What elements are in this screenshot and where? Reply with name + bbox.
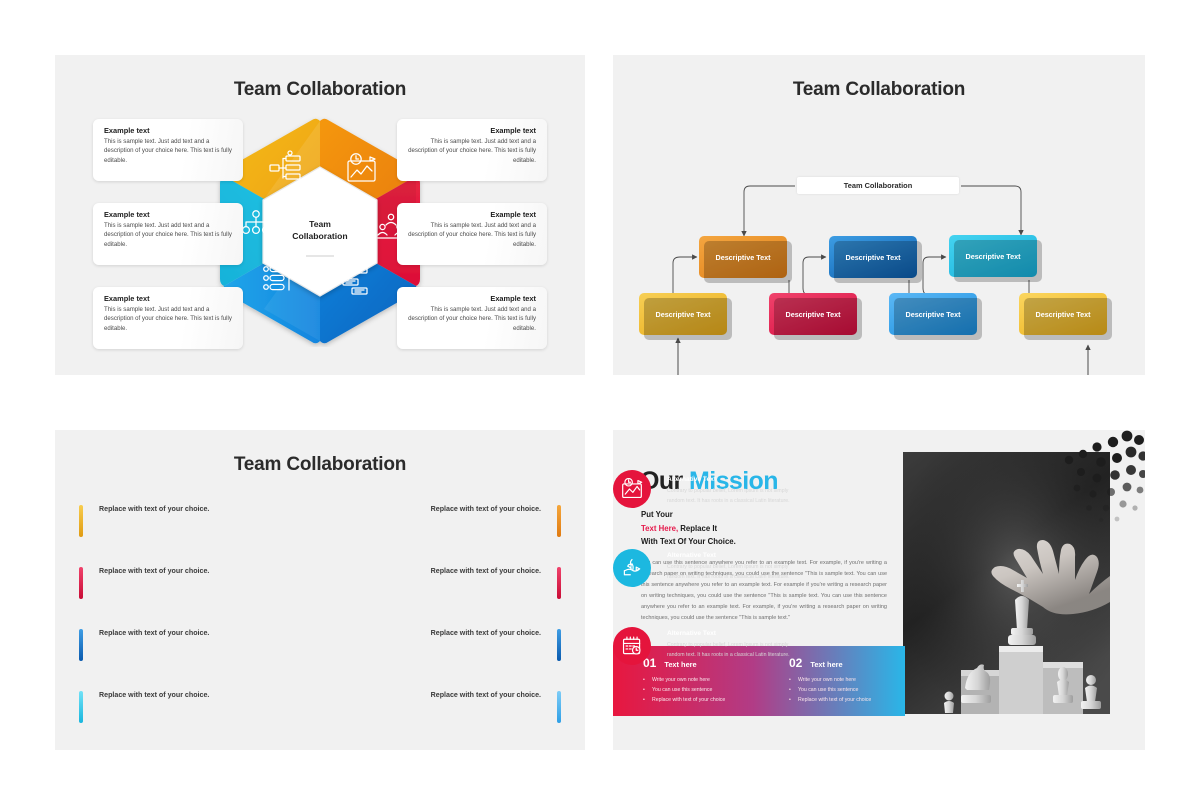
- list-item-right-3[interactable]: Replace with text of your choice.: [426, 628, 561, 639]
- card-heading: Example text: [104, 294, 234, 303]
- list-item-left-2[interactable]: Replace with text of your choice.: [79, 566, 214, 577]
- list-item-right-1[interactable]: Replace with text of your choice.: [426, 504, 561, 515]
- slide-our-mission[interactable]: Our Mission Put Your Text Here, Replace …: [613, 430, 1145, 750]
- subtitle-block: Put Your Text Here, Replace It With Text…: [641, 508, 891, 549]
- card-body: This is sample text. Just add text and a…: [104, 221, 234, 249]
- hexagon-center-line1: Team: [309, 219, 331, 229]
- accent-tick: [557, 691, 561, 723]
- list-item-label: Replace with text of your choice.: [426, 690, 541, 701]
- subtitle-accent: Text Here,: [641, 524, 678, 533]
- list-item-right-4[interactable]: Replace with text of your choice.: [426, 690, 561, 701]
- list-item-label: Replace with text of your choice.: [99, 504, 214, 515]
- example-card-5[interactable]: Example text This is sample text. Just a…: [397, 203, 547, 265]
- column-label: Text here: [810, 660, 842, 669]
- slide-deck-preview: Team Collaboration: [0, 0, 1200, 800]
- handshake-growth-glyph: [621, 557, 643, 579]
- presentation-clock-glyph: [621, 478, 643, 500]
- card-body: This is sample text. Just add text and a…: [406, 305, 536, 333]
- column-bullet: Replace with text of your choice: [643, 695, 759, 705]
- column-bullet: You can use this sentence: [789, 685, 905, 695]
- accent-tick: [79, 691, 83, 723]
- list-item-left-1[interactable]: Replace with text of your choice.: [79, 504, 214, 515]
- halftone-dots-decoration: [1027, 430, 1145, 525]
- accent-tick: [79, 567, 83, 599]
- list-item-label: Replace with text of your choice.: [99, 566, 214, 577]
- column-bullet: Write your own note here: [643, 675, 759, 685]
- calendar-clock-icon[interactable]: [613, 627, 651, 665]
- card-heading: Example text: [104, 126, 234, 135]
- card-heading: Example text: [406, 294, 536, 303]
- accent-tick: [557, 629, 561, 661]
- list-item-label: Replace with text of your choice.: [99, 690, 214, 701]
- handshake-growth-icon[interactable]: [613, 549, 651, 587]
- column-label: Text here: [664, 660, 696, 669]
- mission-column-1: 01 Text here Write your own note here Yo…: [613, 656, 759, 716]
- slide-team-collaboration-pinwheel[interactable]: Team Collaboration: [55, 430, 585, 750]
- alt-heading: Alternative Text: [667, 630, 805, 637]
- example-card-2[interactable]: Example text This is sample text. Just a…: [93, 203, 243, 265]
- alt-text-block-1: Alternative Text Contrary to popular bel…: [667, 476, 805, 506]
- list-item-label: Replace with text of your choice.: [426, 504, 541, 515]
- flow-box-7[interactable]: Descriptive Text: [1019, 293, 1107, 335]
- calendar-clock-glyph: [621, 635, 643, 657]
- page-title: Team Collaboration: [55, 454, 585, 476]
- example-card-3[interactable]: Example text This is sample text. Just a…: [93, 287, 243, 349]
- list-item-left-4[interactable]: Replace with text of your choice.: [79, 690, 214, 701]
- accent-tick: [557, 567, 561, 599]
- list-item-right-2[interactable]: Replace with text of your choice.: [426, 566, 561, 577]
- alt-heading: Alternative Text: [667, 476, 805, 483]
- card-heading: Example text: [104, 210, 234, 219]
- accent-tick: [79, 629, 83, 661]
- column-bullet: You can use this sentence: [643, 685, 759, 695]
- list-item-label: Replace with text of your choice.: [426, 628, 541, 639]
- alt-body: Contrary to popular belief, Lorem Ipsum …: [667, 486, 805, 506]
- subtitle-line-1: Put Your: [641, 508, 891, 522]
- alt-heading: Alternative Text: [667, 552, 805, 559]
- card-body: This is sample text. Just add text and a…: [406, 137, 536, 165]
- card-heading: Example text: [406, 210, 536, 219]
- card-body: This is sample text. Just add text and a…: [104, 137, 234, 165]
- column-header: 02 Text here: [789, 656, 905, 670]
- flow-label-top[interactable]: Team Collaboration: [797, 177, 959, 194]
- mission-column-2: 02 Text here Write your own note here Yo…: [759, 656, 905, 716]
- list-item-label: Replace with text of your choice.: [99, 628, 214, 639]
- alt-body: Contrary to popular belief, Lorem Ipsum …: [667, 562, 805, 582]
- accent-tick: [557, 505, 561, 537]
- flow-box-4[interactable]: Descriptive Text: [639, 293, 727, 335]
- card-body: This is sample text. Just add text and a…: [104, 305, 234, 333]
- subtitle-line-2-rest: Replace It: [678, 524, 717, 533]
- subtitle-line-2: Text Here, Replace It: [641, 522, 891, 536]
- flow-box-5[interactable]: Descriptive Text: [769, 293, 857, 335]
- accent-tick: [79, 505, 83, 537]
- list-item-left-3[interactable]: Replace with text of your choice.: [79, 628, 214, 639]
- alt-text-block-3: Alternative Text Contrary to popular bel…: [667, 630, 805, 660]
- card-heading: Example text: [406, 126, 536, 135]
- flow-box-2[interactable]: Descriptive Text: [829, 236, 917, 278]
- example-card-6[interactable]: Example text This is sample text. Just a…: [397, 287, 547, 349]
- hexagon-center-line2: Collaboration: [292, 231, 347, 241]
- flow-box-3[interactable]: Descriptive Text: [949, 235, 1037, 277]
- slide-team-collaboration-flowchart[interactable]: Team Collaboration: [613, 55, 1145, 375]
- flow-box-1[interactable]: Descriptive Text: [699, 236, 787, 278]
- flow-box-6[interactable]: Descriptive Text: [889, 293, 977, 335]
- subtitle-line-3: With Text Of Your Choice.: [641, 535, 891, 549]
- alt-body: Contrary to popular belief, Lorem Ipsum …: [667, 640, 805, 660]
- column-bullet: Replace with text of your choice: [789, 695, 905, 705]
- example-card-4[interactable]: Example text This is sample text. Just a…: [397, 119, 547, 181]
- card-body: This is sample text. Just add text and a…: [406, 221, 536, 249]
- alt-text-block-2: Alternative Text Contrary to popular bel…: [667, 552, 805, 582]
- presentation-clock-icon[interactable]: [613, 470, 651, 508]
- list-item-label: Replace with text of your choice.: [426, 566, 541, 577]
- example-card-1[interactable]: Example text This is sample text. Just a…: [93, 119, 243, 181]
- column-bullet: Write your own note here: [789, 675, 905, 685]
- slide-team-collaboration-hexagon[interactable]: Team Collaboration: [55, 55, 585, 375]
